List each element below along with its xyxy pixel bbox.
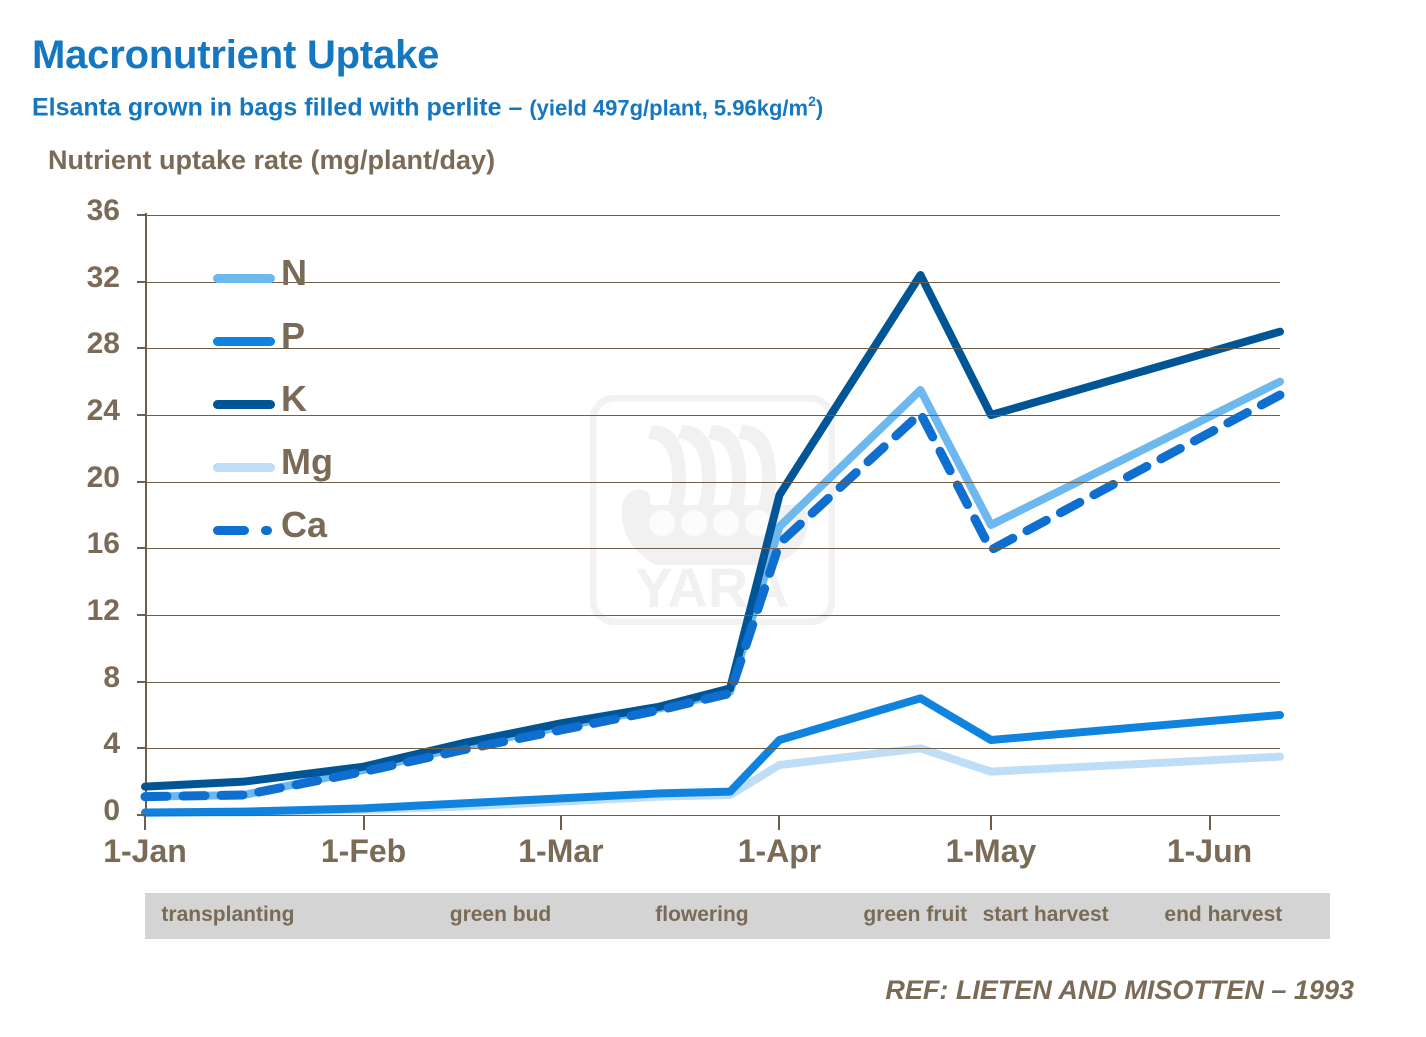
legend-label-p: P: [281, 315, 305, 357]
y-axis-label: 12: [10, 594, 120, 628]
stage-label: transplanting: [161, 903, 294, 927]
yara-watermark: YARA: [590, 395, 835, 625]
subtitle-yield-pre: (yield 497g/plant, 5.96kg/m: [529, 95, 808, 120]
x-axis-label: 1-Apr: [738, 833, 822, 870]
y-axis-tick: [137, 747, 146, 749]
x-axis-label: 1-May: [946, 833, 1037, 870]
legend-swatch-k: [213, 400, 275, 409]
series-line-mg: [145, 748, 1280, 813]
chart-legend: NPKMgCa: [213, 252, 393, 567]
stage-label: green fruit: [863, 903, 967, 927]
y-gridline: [145, 215, 1280, 216]
legend-item-ca[interactable]: Ca: [213, 504, 393, 567]
y-axis-title: Nutrient uptake rate (mg/plant/day): [48, 145, 495, 176]
y-axis-tick: [137, 214, 146, 216]
legend-label-mg: Mg: [281, 441, 333, 483]
y-axis-line: [145, 213, 147, 817]
legend-swatch-mg: [213, 463, 275, 472]
legend-item-p[interactable]: P: [213, 315, 393, 378]
y-axis-tick: [137, 681, 146, 683]
legend-label-n: N: [281, 252, 307, 294]
y-axis-tick: [137, 281, 146, 283]
y-axis-label: 20: [10, 461, 120, 495]
legend-label-ca: Ca: [281, 504, 327, 546]
stage-label: start harvest: [983, 903, 1109, 927]
series-line-p: [145, 698, 1280, 812]
x-axis-label: 1-Jun: [1167, 833, 1252, 870]
stage-label: green bud: [450, 903, 552, 927]
legend-swatch-p: [213, 337, 275, 346]
legend-item-mg[interactable]: Mg: [213, 441, 393, 504]
x-axis-tick: [1209, 816, 1211, 830]
x-axis-tick: [363, 816, 365, 830]
subtitle-yield-post: ): [816, 95, 823, 120]
legend-swatch-n: [213, 274, 275, 283]
y-axis-tick: [137, 547, 146, 549]
svg-text:YARA: YARA: [635, 556, 789, 619]
page-subtitle: Elsanta grown in bags filled with perlit…: [32, 93, 823, 122]
x-axis-tick: [990, 816, 992, 830]
stage-label: end harvest: [1164, 903, 1282, 927]
x-axis-label: 1-Feb: [321, 833, 406, 870]
stage-label: flowering: [655, 903, 748, 927]
legend-item-k[interactable]: K: [213, 378, 393, 441]
y-axis-tick: [137, 347, 146, 349]
subtitle-main-text: Elsanta grown in bags filled with perlit…: [32, 93, 529, 121]
y-gridline: [145, 615, 1280, 616]
y-axis-label: 8: [10, 661, 120, 695]
x-axis-tick: [560, 816, 562, 830]
x-axis-label: 1-Jan: [103, 833, 187, 870]
y-axis-tick: [137, 481, 146, 483]
y-axis-tick: [137, 414, 146, 416]
legend-swatch-ca: [213, 526, 275, 535]
y-axis-label: 0: [10, 794, 120, 828]
y-gridline: [145, 748, 1280, 749]
reference-citation: REF: LIETEN AND MISOTTEN – 1993: [885, 975, 1354, 1006]
subtitle-yield-exponent: 2: [808, 93, 816, 109]
y-axis-label: 16: [10, 527, 120, 561]
y-axis-label: 4: [10, 727, 120, 761]
y-gridline: [145, 682, 1280, 683]
y-gridline: [145, 815, 1280, 816]
y-axis-label: 36: [10, 194, 120, 228]
x-axis-label: 1-Mar: [518, 833, 603, 870]
y-axis-label: 28: [10, 327, 120, 361]
legend-item-n[interactable]: N: [213, 252, 393, 315]
x-axis-tick: [144, 816, 146, 830]
y-axis-tick: [137, 614, 146, 616]
y-axis-label: 24: [10, 394, 120, 428]
y-axis-label: 32: [10, 261, 120, 295]
page-title: Macronutrient Uptake: [32, 33, 439, 78]
legend-label-k: K: [281, 378, 307, 420]
x-axis-tick: [778, 816, 780, 830]
